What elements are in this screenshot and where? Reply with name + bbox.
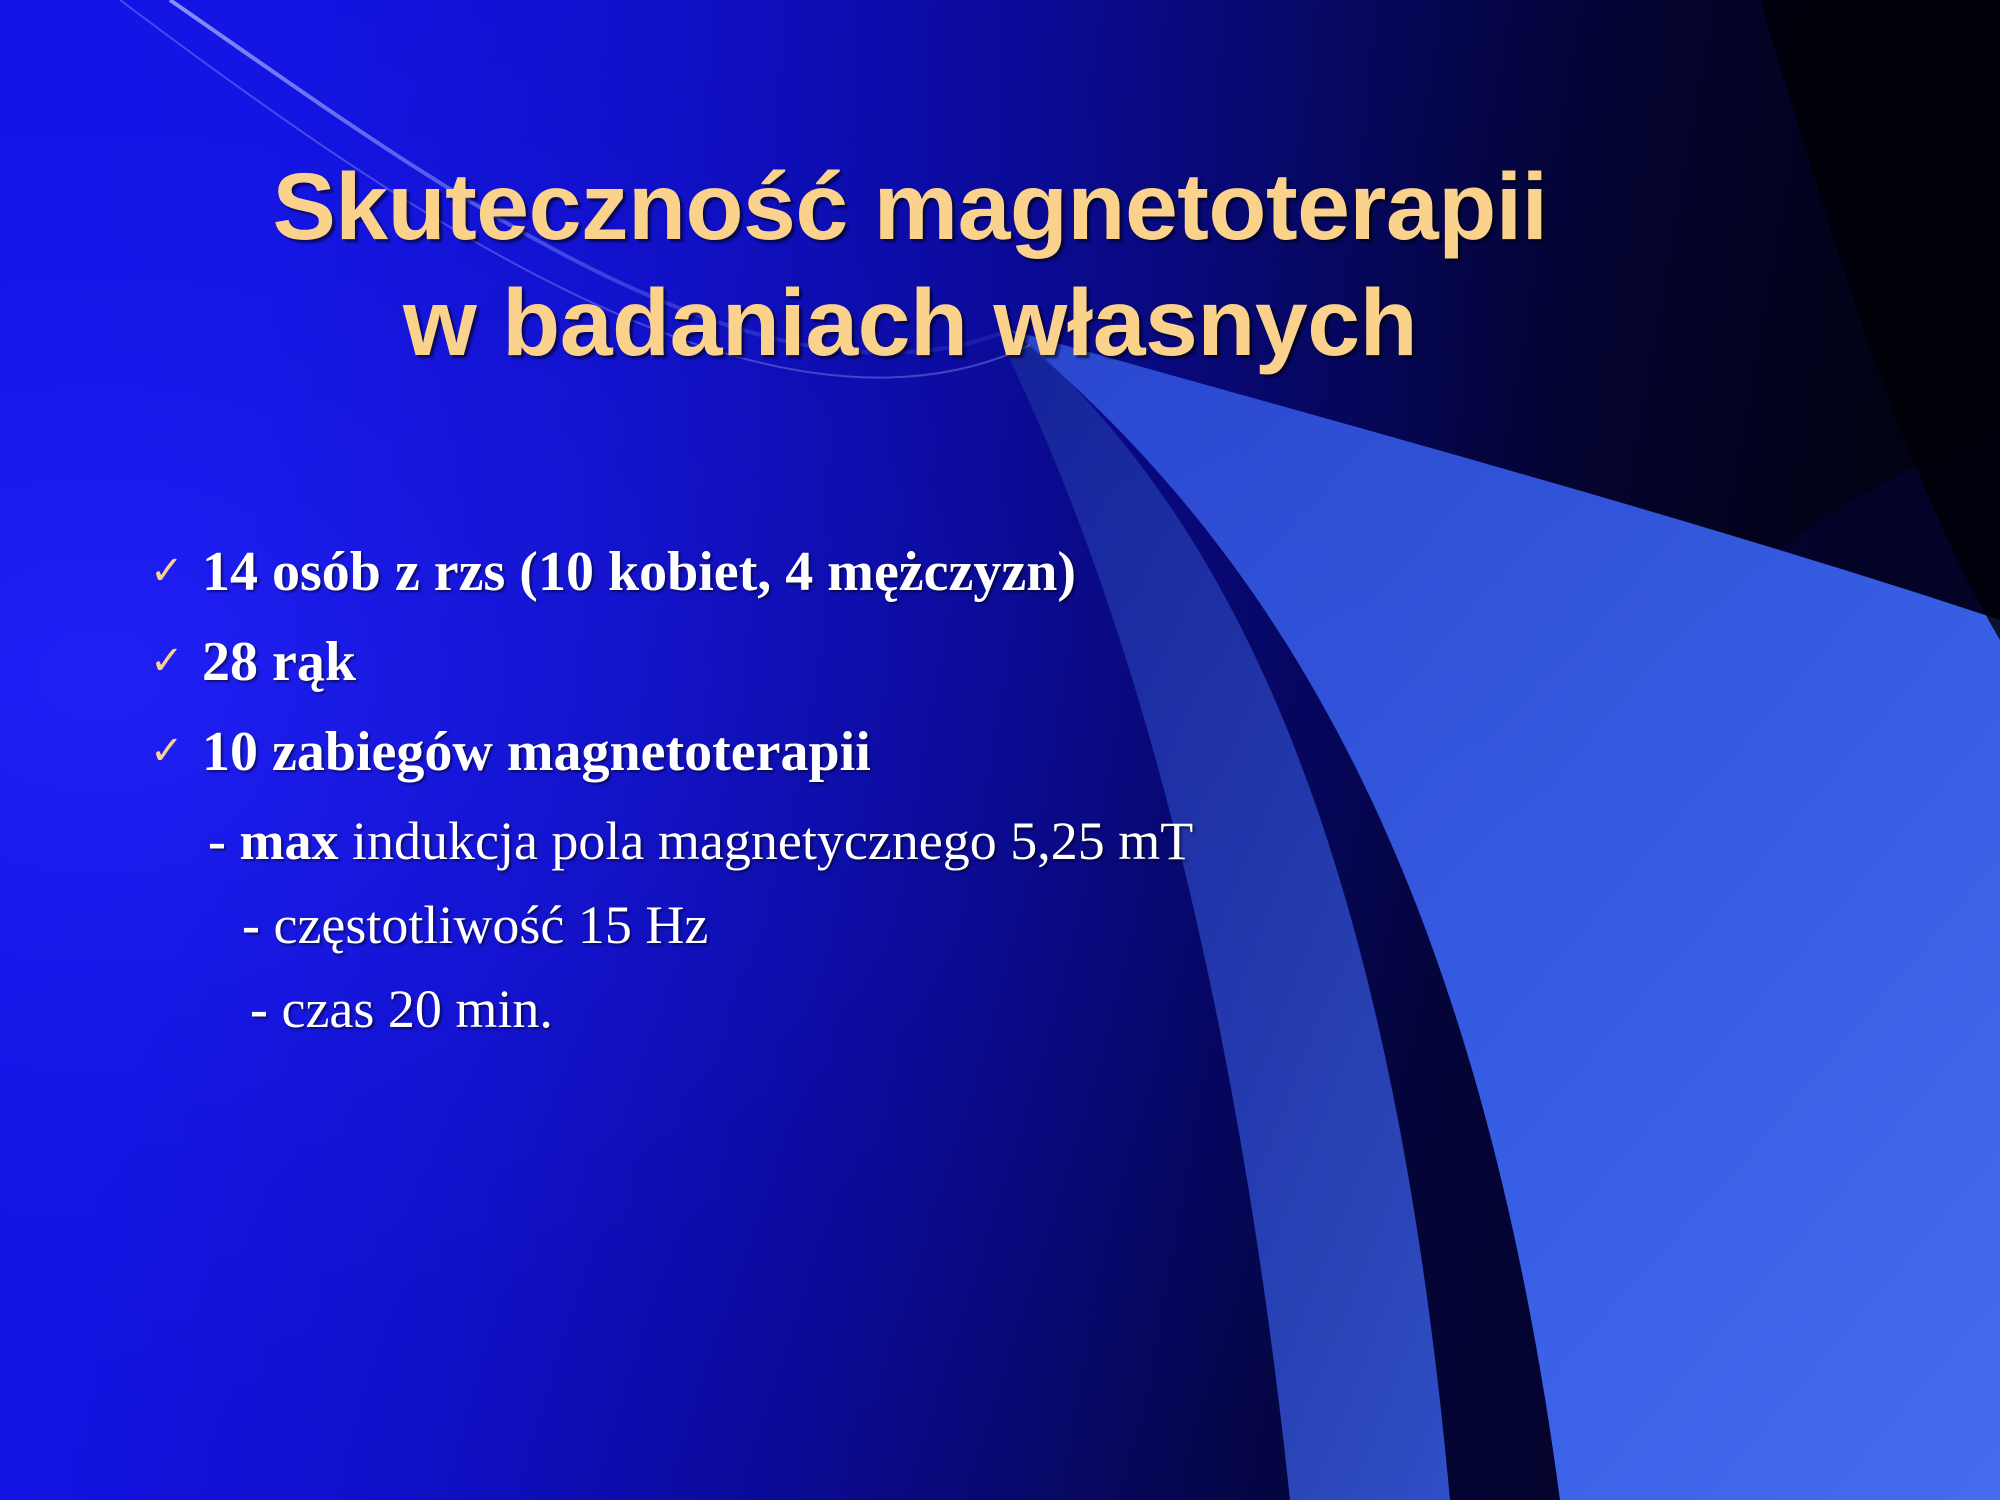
slide-title-line-1: Skuteczność magnetoterapii (272, 154, 1547, 260)
sub-item-dash: - (242, 895, 260, 955)
sub-item-text: indukcja pola magnetycznego 5,25 mT (338, 811, 1193, 871)
checkmark-icon: ✓ (150, 641, 202, 681)
sub-item-text: czas 20 min. (268, 979, 553, 1039)
checkmark-icon: ✓ (150, 731, 202, 771)
list-item: ✓ 14 osób z rzs (10 kobiet, 4 mężczyzn) (150, 540, 1930, 604)
sub-item-text: częstotliwość 15 Hz (260, 895, 708, 955)
slide-title: Skuteczność magnetoterapii w badaniach w… (60, 150, 1760, 382)
sub-list-item: - czas 20 min. (250, 978, 1930, 1040)
sub-item-emphasis: max (239, 811, 338, 871)
checkmark-icon: ✓ (150, 551, 202, 591)
sub-list-item: - częstotliwość 15 Hz (242, 894, 1930, 956)
list-item-label: 10 zabiegów magnetoterapii (202, 720, 871, 784)
list-item: ✓ 10 zabiegów magnetoterapii (150, 720, 1930, 784)
sub-item-dash: - (250, 979, 268, 1039)
list-item: ✓ 28 rąk (150, 630, 1930, 694)
slide-title-line-2: w badaniach własnych (60, 266, 1760, 382)
sub-list-item: - max indukcja pola magnetycznego 5,25 m… (208, 810, 1930, 872)
slide-body: ✓ 14 osób z rzs (10 kobiet, 4 mężczyzn) … (150, 540, 1930, 1062)
sub-item-dash: - (208, 811, 226, 871)
presentation-slide: Skuteczność magnetoterapii w badaniach w… (0, 0, 2000, 1500)
list-item-label: 14 osób z rzs (10 kobiet, 4 mężczyzn) (202, 540, 1076, 604)
list-item-label: 28 rąk (202, 630, 356, 694)
